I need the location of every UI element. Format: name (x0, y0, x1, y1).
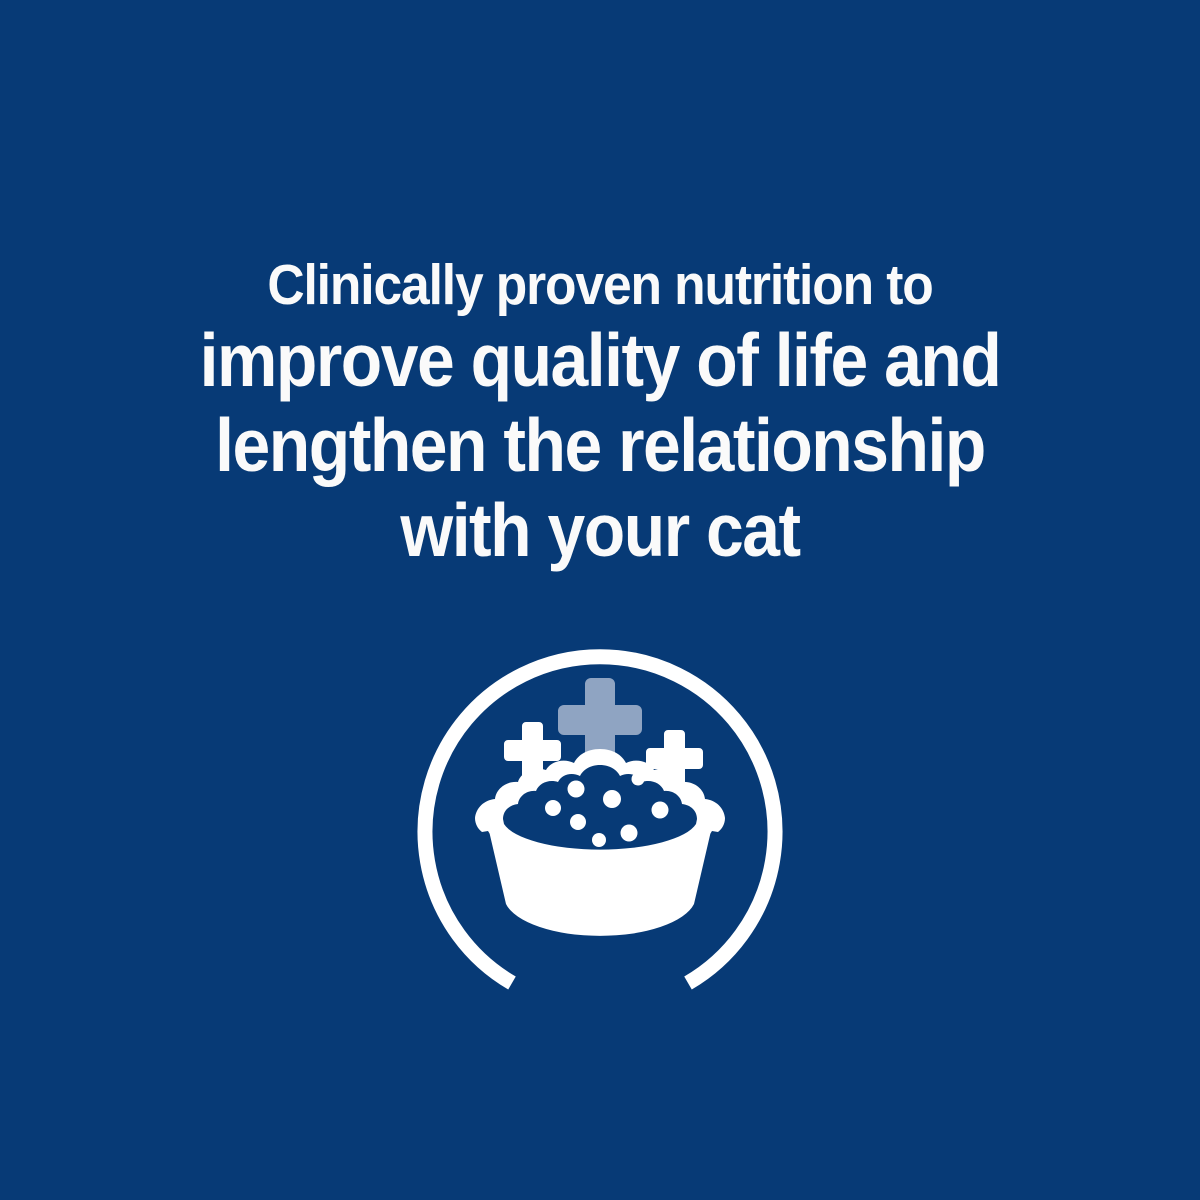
headline-line-2: improve quality of life and (57, 318, 1143, 403)
food-bowl-icon-svg: #icon-wrap [data-name="kibble-dots"] cir… (400, 636, 800, 996)
food-bowl-icon: #icon-wrap [data-name="kibble-dots"] cir… (400, 636, 800, 996)
headline-line-3: lengthen the relationship (57, 403, 1143, 488)
headline-line-1: Clinically proven nutrition to (57, 252, 1143, 318)
promo-card: Clinically proven nutrition to improve q… (0, 0, 1200, 1200)
headline-block: Clinically proven nutrition to improve q… (0, 252, 1200, 573)
headline-line-4: with your cat (57, 488, 1143, 573)
